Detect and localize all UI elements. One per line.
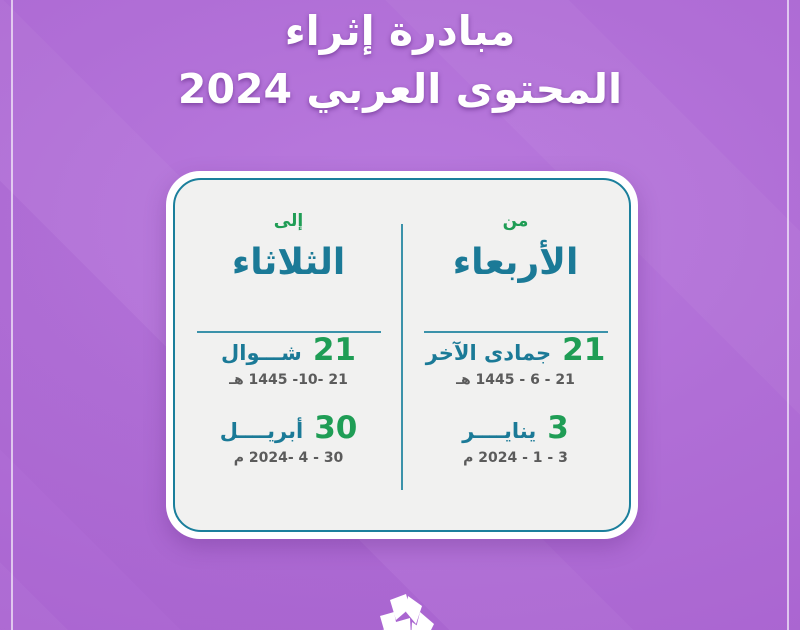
column-to-hijri-date: 21 شـــوال 21 -10- 1445 هـ <box>221 333 356 388</box>
card-inner-panel: من الأربعاء 21 جمادى الآخر 21 - 6 - 1445… <box>173 178 631 532</box>
column-to-gregorian-full: 30 - 4 -2024 م <box>220 450 358 466</box>
initiative-logo-icon <box>350 572 458 630</box>
column-from-gregorian-main: 3 ينايــــر <box>462 411 569 445</box>
column-from: من الأربعاء 21 جمادى الآخر 21 - 6 - 1445… <box>402 180 629 530</box>
poster-root: مبادرة إثراء المحتوى العربي 2024 من الأر… <box>0 0 800 630</box>
column-from-gregorian-date: 3 ينايــــر 3 - 1 - 2024 م <box>462 411 569 466</box>
poster-title-line-1: مبادرة إثراء <box>0 2 800 60</box>
column-to: إلى الثلاثاء 21 شـــوال 21 -10- 1445 هـ … <box>175 180 402 530</box>
column-from-hijri-full: 21 - 6 - 1445 هـ <box>426 372 606 388</box>
column-from-hijri-month: جمادى الآخر <box>426 342 551 365</box>
column-to-gregorian-date: 30 أبريــــل 30 - 4 -2024 م <box>220 411 358 466</box>
column-to-hijri-day: 21 <box>313 333 356 367</box>
column-to-hijri-main: 21 شـــوال <box>221 333 356 367</box>
date-range-card: من الأربعاء 21 جمادى الآخر 21 - 6 - 1445… <box>166 171 638 539</box>
column-to-hijri-month: شـــوال <box>221 342 302 365</box>
column-to-day-name: الثلاثاء <box>232 244 345 282</box>
card-columns: من الأربعاء 21 جمادى الآخر 21 - 6 - 1445… <box>175 180 629 530</box>
column-from-gregorian-day: 3 <box>547 411 569 445</box>
column-from-gregorian-month: ينايــــر <box>462 420 536 443</box>
poster-title: مبادرة إثراء المحتوى العربي 2024 <box>0 0 800 118</box>
column-from-hijri-day: 21 <box>562 333 605 367</box>
column-to-kicker: إلى <box>274 213 303 230</box>
column-to-gregorian-main: 30 أبريــــل <box>220 411 358 445</box>
column-to-hijri-full: 21 -10- 1445 هـ <box>221 372 356 388</box>
column-from-gregorian-full: 3 - 1 - 2024 م <box>462 450 569 466</box>
column-to-gregorian-month: أبريــــل <box>220 420 304 443</box>
column-from-day-name: الأربعاء <box>453 244 579 282</box>
column-from-hijri-date: 21 جمادى الآخر 21 - 6 - 1445 هـ <box>426 333 606 388</box>
column-from-kicker: من <box>503 213 529 230</box>
column-from-hijri-main: 21 جمادى الآخر <box>426 333 606 367</box>
poster-title-line-2: المحتوى العربي 2024 <box>0 60 800 118</box>
column-to-gregorian-day: 30 <box>314 411 357 445</box>
